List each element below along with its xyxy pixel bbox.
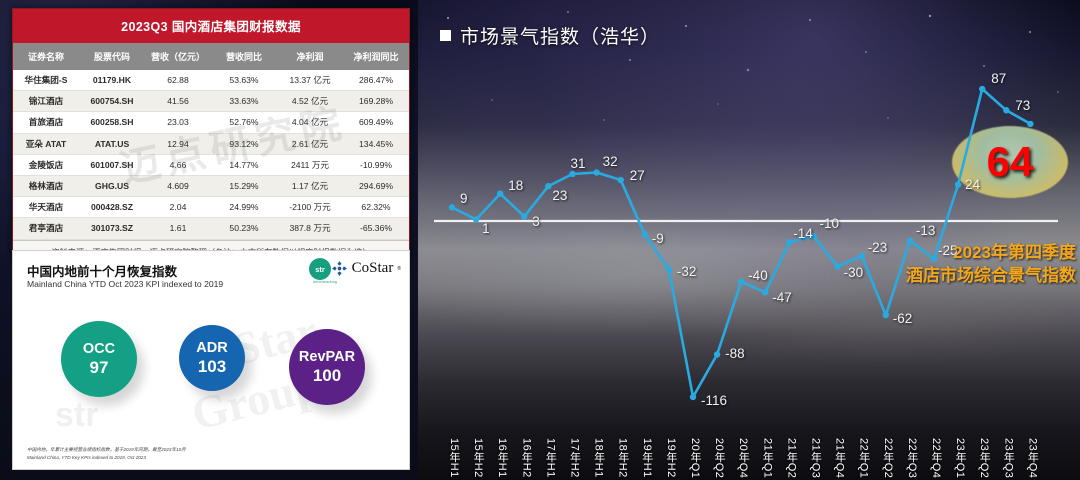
x-axis-label: 22年Q2: [880, 438, 896, 478]
point-value-label: -13: [916, 223, 936, 238]
table-header-row: 证券名称 股票代码 营收（亿元） 营收同比 净利润 净利润同比: [13, 43, 409, 70]
costar-mark-icon: [331, 260, 348, 277]
data-point: [834, 263, 840, 269]
data-point: [521, 213, 527, 219]
x-axis-label: 19年H1: [639, 438, 655, 478]
x-axis-label: 23年Q4: [1024, 438, 1040, 478]
kpi-title-en: Mainland China YTD Oct 2023 KPI indexed …: [27, 279, 223, 289]
cell-profit-yoy: 169.28%: [343, 91, 409, 112]
cell-profit: 387.8 万元: [277, 218, 343, 239]
x-axis-label: 20年Q4: [735, 438, 751, 478]
point-value-label: -32: [677, 264, 697, 279]
x-axis-label: 23年Q3: [1000, 438, 1016, 478]
cell-profit-yoy: 134.45%: [343, 133, 409, 154]
data-point: [593, 169, 599, 175]
costar-trademark: ®: [397, 266, 401, 272]
slide-canvas: 2023Q3 国内酒店集团财报数据 迈点研究院 证券名称 股票代码 营收（亿元）…: [0, 0, 1080, 480]
data-point: [714, 351, 720, 357]
point-value-label: -88: [725, 346, 745, 361]
cell-profit: 2411 万元: [277, 154, 343, 175]
cell-revenue: 23.03: [145, 112, 211, 133]
cell-revenue-yoy: 93.12%: [211, 133, 277, 154]
cell-revenue: 1.61: [145, 218, 211, 239]
annotation-line-1: 2023年第四季度: [906, 242, 1076, 265]
col-name: 证券名称: [13, 43, 79, 70]
x-axis-label: 15年H1: [446, 438, 462, 478]
highlight-value: 64: [952, 126, 1068, 198]
cell-profit: -2100 万元: [277, 197, 343, 218]
data-point: [618, 177, 624, 183]
cell-revenue-yoy: 15.29%: [211, 175, 277, 196]
data-point: [690, 394, 696, 400]
kpi-footnote-en: Mainland China, YTD Key KPIs indexed to …: [27, 455, 146, 460]
cell-profit-yoy: 62.32%: [343, 197, 409, 218]
cell-revenue-yoy: 14.77%: [211, 154, 277, 175]
cell-profit: 1.17 亿元: [277, 175, 343, 196]
cell-code: 601007.SH: [79, 154, 145, 175]
data-point: [738, 278, 744, 284]
data-point: [569, 171, 575, 177]
point-value-label: 9: [460, 191, 468, 206]
x-axis-label: 23年Q2: [976, 438, 992, 478]
x-axis-labels: 15年H115年H216年H116年H217年H117年H218年H118年H2…: [418, 412, 1080, 480]
kpi-footnote-cn: 中国内地，年累计主要经营业绩指标指数，基于2019年同期，截至2023年10月: [27, 447, 186, 453]
kpi-bubble-label: ADR: [196, 340, 227, 357]
financial-table: 证券名称 股票代码 营收（亿元） 营收同比 净利润 净利润同比 华住集团-S 0…: [13, 43, 409, 240]
x-axis-label: 22年Q3: [904, 438, 920, 478]
data-point: [762, 289, 768, 295]
kpi-bubble-label: OCC: [83, 341, 115, 358]
table-row: 亚朵 ATAT ATAT.US 12.94 93.12% 2.61 亿元 134…: [13, 133, 409, 154]
point-value-label: -40: [748, 268, 768, 283]
x-axis-label: 15年H2: [470, 438, 486, 478]
cell-name: 首旅酒店: [13, 112, 79, 133]
point-value-label: 32: [603, 154, 618, 169]
table-row: 华住集团-S 01179.HK 62.88 53.63% 13.37 亿元 28…: [13, 70, 409, 91]
cell-revenue: 41.56: [145, 91, 211, 112]
data-point: [786, 239, 792, 245]
x-axis-label: 23年Q1: [952, 438, 968, 478]
point-value-label: 27: [630, 168, 645, 183]
table-row: 格林酒店 GHG.US 4.609 15.29% 1.17 亿元 294.69%: [13, 175, 409, 196]
cell-profit: 4.52 亿元: [277, 91, 343, 112]
cell-profit: 4.04 亿元: [277, 112, 343, 133]
kpi-bubble-label: RevPAR: [299, 349, 355, 366]
cell-revenue-yoy: 33.63%: [211, 91, 277, 112]
point-value-label: -14: [793, 226, 813, 241]
cell-revenue-yoy: 52.76%: [211, 112, 277, 133]
cell-profit-yoy: -10.99%: [343, 154, 409, 175]
x-axis-label: 22年Q1: [856, 438, 872, 478]
cell-name: 亚朵 ATAT: [13, 133, 79, 154]
cell-code: GHG.US: [79, 175, 145, 196]
x-axis-label: 20年Q1: [687, 438, 703, 478]
point-value-label: 31: [571, 156, 586, 171]
str-logo-icon: str: [309, 258, 331, 280]
cell-code: 301073.SZ: [79, 218, 145, 239]
x-axis-label: 18年H1: [591, 438, 607, 478]
cell-profit-yoy: -65.36%: [343, 218, 409, 239]
table-row: 首旅酒店 600258.SH 23.03 52.76% 4.04 亿元 609.…: [13, 112, 409, 133]
cell-profit-yoy: 294.69%: [343, 175, 409, 196]
cell-profit: 2.61 亿元: [277, 133, 343, 154]
point-value-label: 87: [991, 71, 1006, 86]
point-value-label: -30: [844, 265, 864, 280]
point-value-label: -9: [652, 231, 664, 246]
cell-revenue: 2.04: [145, 197, 211, 218]
costar-logo: CoStar ®: [331, 260, 401, 277]
x-axis-label: 19年H2: [663, 438, 679, 478]
data-point: [859, 253, 865, 259]
col-revenue: 营收（亿元）: [145, 43, 211, 70]
cell-revenue-yoy: 50.23%: [211, 218, 277, 239]
cell-name: 格林酒店: [13, 175, 79, 196]
cell-name: 华住集团-S: [13, 70, 79, 91]
data-point: [666, 266, 672, 272]
point-value-label: 23: [552, 188, 567, 203]
x-axis-label: 16年H2: [518, 438, 534, 478]
table-row: 华天酒店 000428.SZ 2.04 24.99% -2100 万元 62.3…: [13, 197, 409, 218]
x-axis-label: 22年Q4: [928, 438, 944, 478]
table-row: 君亭酒店 301073.SZ 1.61 50.23% 387.8 万元 -65.…: [13, 218, 409, 239]
x-axis-label: 21年Q2: [783, 438, 799, 478]
table-row: 金陵饭店 601007.SH 4.66 14.77% 2411 万元 -10.9…: [13, 154, 409, 175]
market-index-line-chart: [418, 0, 1080, 420]
kpi-title-cn: 中国内地前十个月恢复指数: [27, 261, 177, 280]
kpi-bubble-value: 103: [198, 357, 226, 377]
x-axis-label: 17年H2: [567, 438, 583, 478]
table-title: 2023Q3 国内酒店集团财报数据: [13, 9, 409, 43]
point-value-label: -47: [772, 290, 792, 305]
cell-revenue-yoy: 53.63%: [211, 70, 277, 91]
data-point: [497, 190, 503, 196]
x-axis-label: 20年Q2: [711, 438, 727, 478]
financial-table-card: 2023Q3 国内酒店集团财报数据 迈点研究院 证券名称 股票代码 营收（亿元）…: [12, 8, 410, 265]
cell-code: 01179.HK: [79, 70, 145, 91]
cell-profit-yoy: 609.49%: [343, 112, 409, 133]
cell-code: 000428.SZ: [79, 197, 145, 218]
point-value-label: -10: [820, 216, 840, 231]
data-point: [473, 216, 479, 222]
col-code: 股票代码: [79, 43, 145, 70]
cell-name: 华天酒店: [13, 197, 79, 218]
table-row: 锦江酒店 600754.SH 41.56 33.63% 4.52 亿元 169.…: [13, 91, 409, 112]
cell-revenue: 62.88: [145, 70, 211, 91]
kpi-bubble-value: 100: [313, 366, 341, 386]
cell-revenue-yoy: 24.99%: [211, 197, 277, 218]
str-logo-subtext: benchmarking: [313, 280, 337, 284]
col-profit-yoy: 净利润同比: [343, 43, 409, 70]
kpi-bubble-occ: OCC 97: [61, 321, 137, 397]
cell-profit: 13.37 亿元: [277, 70, 343, 91]
point-value-label: -62: [893, 311, 913, 326]
data-point: [449, 204, 455, 210]
cell-name: 锦江酒店: [13, 91, 79, 112]
x-axis-label: 21年Q3: [808, 438, 824, 478]
cell-name: 君亭酒店: [13, 218, 79, 239]
quarter-annotation: 2023年第四季度 酒店市场综合景气指数: [906, 242, 1076, 288]
cell-code: 600258.SH: [79, 112, 145, 133]
x-axis-label: 17年H1: [542, 438, 558, 478]
x-axis-label: 18年H2: [615, 438, 631, 478]
point-value-label: -23: [868, 240, 888, 255]
cell-code: 600754.SH: [79, 91, 145, 112]
point-value-label: 18: [508, 178, 523, 193]
kpi-bubble-value: 97: [90, 358, 109, 378]
point-value-label: 73: [1015, 98, 1030, 113]
x-axis-label: 16年H1: [494, 438, 510, 478]
cell-revenue: 12.94: [145, 133, 211, 154]
cell-revenue: 4.609: [145, 175, 211, 196]
data-point: [1003, 107, 1009, 113]
data-point: [979, 86, 985, 92]
data-point: [883, 312, 889, 318]
cell-profit-yoy: 286.47%: [343, 70, 409, 91]
kpi-bubble-revpar: RevPAR 100: [289, 329, 365, 405]
point-value-label: 1: [482, 221, 490, 236]
point-value-label: -116: [701, 393, 727, 408]
x-axis-label: 21年Q4: [832, 438, 848, 478]
col-revenue-yoy: 营收同比: [211, 43, 277, 70]
col-profit: 净利润: [277, 43, 343, 70]
cell-name: 金陵饭店: [13, 154, 79, 175]
annotation-line-2: 酒店市场综合景气指数: [906, 265, 1076, 288]
cell-code: ATAT.US: [79, 133, 145, 154]
data-point: [642, 231, 648, 237]
data-point: [545, 183, 551, 189]
point-value-label: 3: [532, 214, 540, 229]
kpi-card: CoStar Group str 中国内地前十个月恢复指数 Mainland C…: [12, 250, 410, 470]
kpi-watermark-str: str: [55, 396, 98, 435]
kpi-bubble-adr: ADR 103: [179, 325, 245, 391]
cell-revenue: 4.66: [145, 154, 211, 175]
x-axis-label: 21年Q1: [759, 438, 775, 478]
costar-logo-text: CoStar: [352, 260, 394, 277]
